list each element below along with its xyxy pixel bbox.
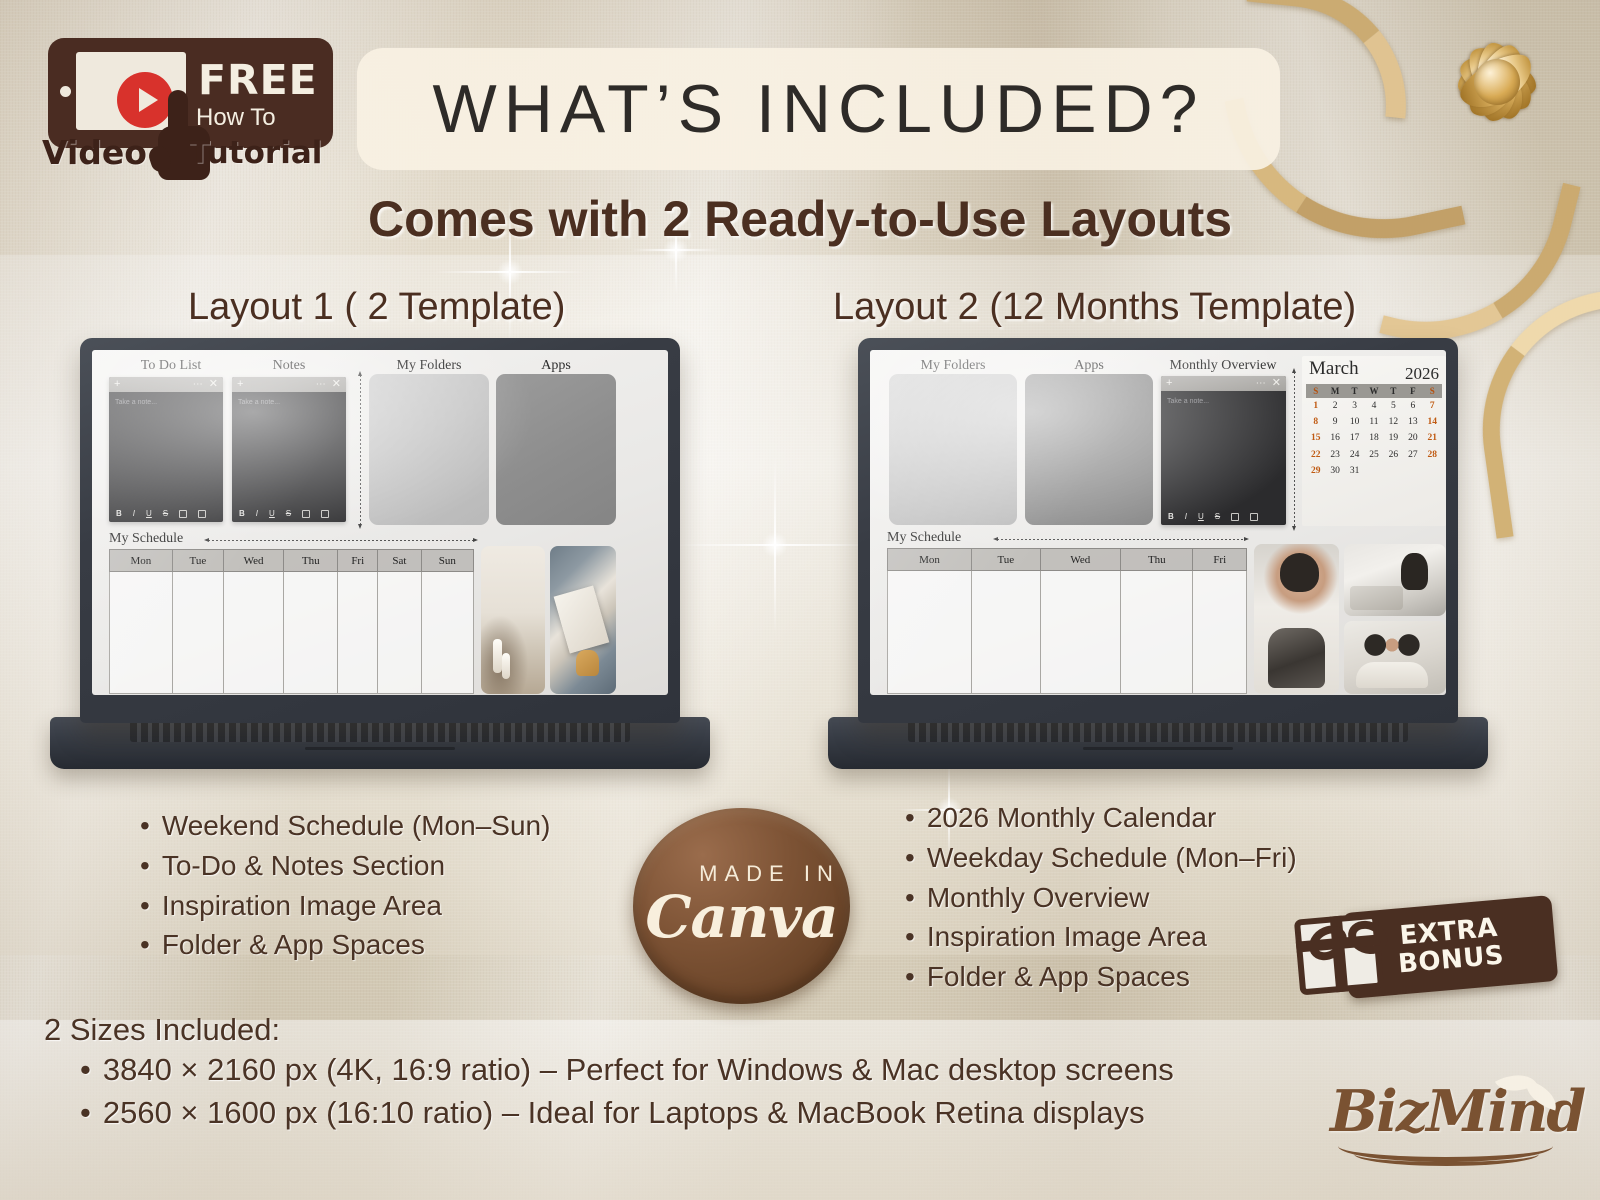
calendar-day[interactable]: 16 [1325, 430, 1344, 446]
strikethrough-icon[interactable]: S [1215, 512, 1220, 521]
schedule-cell[interactable] [1040, 571, 1121, 694]
extra-bonus-badge: EXTRA BONUS [1287, 888, 1555, 1006]
notes-note-window[interactable]: + ⋯ ✕ Take a note... B I U S [232, 377, 346, 522]
calendar-day[interactable]: 6 [1403, 398, 1422, 414]
list-icon[interactable] [1231, 513, 1239, 521]
calendar-day [1384, 463, 1403, 479]
image-icon[interactable] [198, 510, 206, 518]
calendar-day[interactable]: 15 [1306, 430, 1325, 446]
laptop-mockup-layout-2: My Folders Apps Monthly Overview + ⋯ ✕ T… [828, 338, 1488, 783]
schedule-cell[interactable] [172, 572, 223, 694]
schedule-cell[interactable] [284, 572, 338, 694]
list-item: Weekend Schedule (Mon–Sun) [140, 806, 550, 846]
my-schedule-label: My Schedule [887, 530, 961, 546]
calendar-week-row: 29 30 31 [1306, 463, 1442, 479]
inspiration-photo-stationery[interactable] [550, 546, 616, 694]
note-window-titlebar: + ⋯ ✕ [109, 377, 223, 392]
underline-icon[interactable]: U [269, 509, 275, 518]
calendar-day[interactable]: 18 [1364, 430, 1383, 446]
calendar-year-label: 2026 [1405, 364, 1439, 384]
laptop-base-keyboard [828, 717, 1488, 769]
note-formatting-toolbar[interactable]: B I U S [1161, 508, 1286, 525]
inspiration-photo-woman-cat[interactable] [1254, 544, 1339, 694]
calendar-day[interactable]: 11 [1364, 414, 1383, 430]
list-item: Weekday Schedule (Mon–Fri) [905, 838, 1297, 878]
schedule-day-header: Fri [1193, 549, 1247, 571]
italic-icon[interactable]: I [1185, 512, 1187, 521]
badge-tutorial-label: Tutorial [189, 138, 322, 169]
sizes-heading: 2 Sizes Included: [44, 1012, 1174, 1048]
calendar-day[interactable]: 9 [1325, 414, 1344, 430]
schedule-header-row: Mon Tue Wed Thu Fri [888, 549, 1247, 571]
calendar-day[interactable]: 27 [1403, 447, 1422, 463]
schedule-cell[interactable] [110, 572, 173, 694]
brand-name: BizMind [1330, 1078, 1584, 1145]
calendar-day [1403, 463, 1422, 479]
schedule-day-header: Thu [1121, 549, 1193, 571]
page-title-banner: WHAT’S INCLUDED? [357, 48, 1280, 170]
schedule-cell[interactable] [1121, 571, 1193, 694]
schedule-day-header: Thu [284, 550, 338, 572]
more-options-icon[interactable]: ⋯ [316, 380, 326, 390]
my-folders-panel[interactable] [889, 374, 1017, 525]
schedule-cell[interactable] [1193, 571, 1247, 694]
schedule-day-header: Wed [1040, 549, 1121, 571]
schedule-cell[interactable] [421, 572, 473, 694]
schedule-body-row[interactable] [110, 572, 474, 694]
schedule-cell[interactable] [378, 572, 421, 694]
note-window-titlebar: + ⋯ ✕ [1161, 376, 1286, 391]
list-item: 2026 Monthly Calendar [905, 798, 1297, 838]
dimension-line-vertical [360, 375, 361, 525]
list-item: Inspiration Image Area [140, 886, 550, 926]
list-item: 2560 × 1600 px (16:10 ratio) – Ideal for… [80, 1091, 1174, 1134]
layout-2-feature-list: 2026 Monthly Calendar Weekday Schedule (… [905, 798, 1297, 997]
image-icon[interactable] [321, 510, 329, 518]
my-folders-title: My Folders [889, 358, 1017, 374]
laptop-base-keyboard [50, 717, 710, 769]
bold-icon[interactable]: B [1168, 512, 1174, 521]
list-item: Folder & App Spaces [905, 957, 1297, 997]
schedule-day-header: Mon [110, 550, 173, 572]
calendar-weekday: T [1384, 384, 1403, 398]
calendar-day[interactable]: 7 [1423, 398, 1442, 414]
calendar-day[interactable]: 24 [1345, 447, 1364, 463]
calendar-day[interactable]: 26 [1384, 447, 1403, 463]
underline-icon[interactable]: U [146, 509, 152, 518]
schedule-day-header: Tue [972, 549, 1040, 571]
layout-2-wallpaper-preview: My Folders Apps Monthly Overview + ⋯ ✕ T… [870, 350, 1446, 695]
close-icon[interactable]: ✕ [209, 379, 218, 390]
calendar-week-row: 15 16 17 18 19 20 21 [1306, 430, 1442, 446]
weekday-schedule-table[interactable]: Mon Tue Wed Thu Fri [887, 548, 1247, 694]
schedule-header-row: Mon Tue Wed Thu Fri Sat Sun [110, 550, 474, 572]
schedule-cell[interactable] [223, 572, 283, 694]
calendar-weekday-header-row: S M T W T F S [1306, 384, 1442, 398]
add-note-icon[interactable]: + [1166, 378, 1172, 389]
list-icon[interactable] [302, 510, 310, 518]
calendar-day[interactable]: 13 [1403, 414, 1422, 430]
strikethrough-icon[interactable]: S [163, 509, 168, 518]
calendar-day[interactable]: 10 [1345, 414, 1364, 430]
schedule-day-header: Tue [172, 550, 223, 572]
note-placeholder: Take a note... [1167, 398, 1209, 405]
weekly-schedule-table[interactable]: Mon Tue Wed Thu Fri Sat Sun [109, 549, 474, 694]
calendar-day[interactable]: 17 [1345, 430, 1364, 446]
calendar-week-row: 1 2 3 4 5 6 7 [1306, 398, 1442, 414]
calendar-day[interactable]: 22 [1306, 447, 1325, 463]
calendar-day [1423, 463, 1442, 479]
close-icon[interactable]: ✕ [1272, 378, 1281, 389]
todo-list-title: To Do List [116, 358, 226, 374]
schedule-day-header: Sat [378, 550, 421, 572]
inspiration-photo-candles[interactable] [481, 546, 545, 694]
bold-icon[interactable]: B [116, 509, 122, 518]
laptop-mockup-layout-1: To Do List Notes + ⋯ ✕ Take a note... B [50, 338, 710, 783]
calendar-day[interactable]: 3 [1345, 398, 1364, 414]
schedule-cell[interactable] [888, 571, 972, 694]
close-icon[interactable]: ✕ [332, 379, 341, 390]
schedule-day-header: Wed [223, 550, 283, 572]
schedule-day-header: Sun [421, 550, 473, 572]
more-options-icon[interactable]: ⋯ [193, 380, 203, 390]
brand-underline-swoosh [1354, 1154, 1539, 1166]
note-window-titlebar: + ⋯ ✕ [232, 377, 346, 392]
calendar-day[interactable]: 29 [1306, 463, 1325, 479]
strikethrough-icon[interactable]: S [286, 509, 291, 518]
calendar-week-row: 22 23 24 25 26 27 28 [1306, 447, 1442, 463]
layout-1-feature-list: Weekend Schedule (Mon–Sun) To-Do & Notes… [140, 806, 550, 965]
inspiration-photo-desk[interactable] [1344, 544, 1446, 616]
dimension-line-vertical [1294, 372, 1295, 527]
monthly-overview-note-window[interactable]: + ⋯ ✕ Take a note... B I U S [1161, 376, 1286, 525]
more-options-icon[interactable]: ⋯ [1256, 379, 1266, 389]
calendar-day[interactable]: 25 [1364, 447, 1383, 463]
monthly-overview-title: Monthly Overview [1159, 358, 1287, 374]
poster-canvas: FREE How To Video Tutorial WHAT’S INCLUD… [0, 0, 1600, 1200]
monthly-calendar[interactable]: March 2026 S M T W T F S 1 [1302, 356, 1446, 526]
calendar-day[interactable]: 31 [1345, 463, 1364, 479]
list-icon[interactable] [179, 510, 187, 518]
calendar-day[interactable]: 12 [1384, 414, 1403, 430]
list-item: Monthly Overview [905, 878, 1297, 918]
list-item: Folder & App Spaces [140, 925, 550, 965]
my-schedule-label: My Schedule [109, 531, 183, 547]
calendar-day[interactable]: 19 [1384, 430, 1403, 446]
calendar-weekday: S [1423, 384, 1442, 398]
note-formatting-toolbar[interactable]: B I U S [232, 505, 346, 522]
note-placeholder: Take a note... [115, 399, 157, 406]
page-title: WHAT’S INCLUDED? [433, 70, 1205, 148]
gift-box-icon [1294, 912, 1384, 995]
underline-icon[interactable]: U [1198, 512, 1204, 521]
made-in-canva-badge: MADE IN Canva [633, 808, 850, 1004]
note-body[interactable]: Take a note... B I U S [1161, 391, 1286, 525]
calendar-day[interactable]: 2 [1325, 398, 1344, 414]
schedule-cell[interactable] [972, 571, 1040, 694]
note-placeholder: Take a note... [238, 399, 280, 406]
calendar-weekday: T [1345, 384, 1364, 398]
calendar-day[interactable]: 1 [1306, 398, 1325, 414]
calendar-day[interactable]: 14 [1423, 414, 1442, 430]
note-body[interactable]: Take a note... B I U S [109, 392, 223, 522]
calendar-day [1364, 463, 1383, 479]
schedule-cell[interactable] [338, 572, 378, 694]
calendar-day[interactable]: 4 [1364, 398, 1383, 414]
apps-panel[interactable] [496, 374, 616, 525]
italic-icon[interactable]: I [256, 509, 258, 518]
laptop-lid: My Folders Apps Monthly Overview + ⋯ ✕ T… [858, 338, 1458, 723]
dimension-line-horizontal [208, 540, 474, 541]
calendar-weekday: M [1325, 384, 1344, 398]
badge-video-label: Video [42, 136, 147, 169]
calendar-day[interactable]: 20 [1403, 430, 1422, 446]
schedule-day-header: Fri [338, 550, 378, 572]
add-note-icon[interactable]: + [237, 379, 243, 390]
calendar-day[interactable]: 21 [1423, 430, 1442, 446]
calendar-day[interactable]: 23 [1325, 447, 1344, 463]
canva-name-label: Canva [645, 883, 837, 951]
note-formatting-toolbar[interactable]: B I U S [109, 505, 223, 522]
sizes-section: 2 Sizes Included: 3840 × 2160 px (4K, 16… [44, 1012, 1174, 1135]
layout-1-wallpaper-preview: To Do List Notes + ⋯ ✕ Take a note... B [92, 350, 668, 695]
layout-1-title: Layout 1 ( 2 Template) [188, 286, 565, 329]
laptop-lid: To Do List Notes + ⋯ ✕ Take a note... B [80, 338, 680, 723]
calendar-month-label: March [1309, 358, 1359, 380]
add-note-icon[interactable]: + [114, 379, 120, 390]
calendar-weekday: S [1306, 384, 1325, 398]
calendar-grid: S M T W T F S 1 2 3 4 [1306, 384, 1442, 479]
italic-icon[interactable]: I [133, 509, 135, 518]
free-video-tutorial-badge[interactable]: FREE How To Video Tutorial [38, 30, 338, 175]
notes-title: Notes [234, 358, 344, 374]
note-body[interactable]: Take a note... B I U S [232, 392, 346, 522]
calendar-day[interactable]: 5 [1384, 398, 1403, 414]
list-item: 3840 × 2160 px (4K, 16:9 ratio) – Perfec… [80, 1048, 1174, 1091]
apps-title: Apps [496, 358, 616, 374]
calendar-weekday: F [1403, 384, 1422, 398]
dimension-line-horizontal [997, 539, 1245, 540]
apps-panel[interactable] [1025, 374, 1153, 525]
calendar-day[interactable]: 30 [1325, 463, 1344, 479]
list-item: To-Do & Notes Section [140, 846, 550, 886]
inspiration-photo-family[interactable] [1344, 621, 1446, 694]
schedule-body-row[interactable] [888, 571, 1247, 694]
calendar-day[interactable]: 8 [1306, 414, 1325, 430]
schedule-day-header: Mon [888, 549, 972, 571]
bonus-line-2: BONUS [1397, 942, 1505, 979]
tablet-camera-dot [60, 86, 71, 97]
calendar-week-row: 8 9 10 11 12 13 14 [1306, 414, 1442, 430]
bold-icon[interactable]: B [239, 509, 245, 518]
todo-note-window[interactable]: + ⋯ ✕ Take a note... B I U S [109, 377, 223, 522]
calendar-weekday: W [1364, 384, 1383, 398]
page-subtitle: Comes with 2 Ready-to-Use Layouts [0, 190, 1600, 248]
apps-title: Apps [1025, 358, 1153, 374]
list-item: Inspiration Image Area [905, 917, 1297, 957]
brand-logo: BizMind [1330, 1070, 1580, 1180]
layout-2-title: Layout 2 (12 Months Template) [833, 286, 1356, 329]
my-folders-panel[interactable] [369, 374, 489, 525]
image-icon[interactable] [1250, 513, 1258, 521]
my-folders-title: My Folders [369, 358, 489, 374]
calendar-day[interactable]: 28 [1423, 447, 1442, 463]
